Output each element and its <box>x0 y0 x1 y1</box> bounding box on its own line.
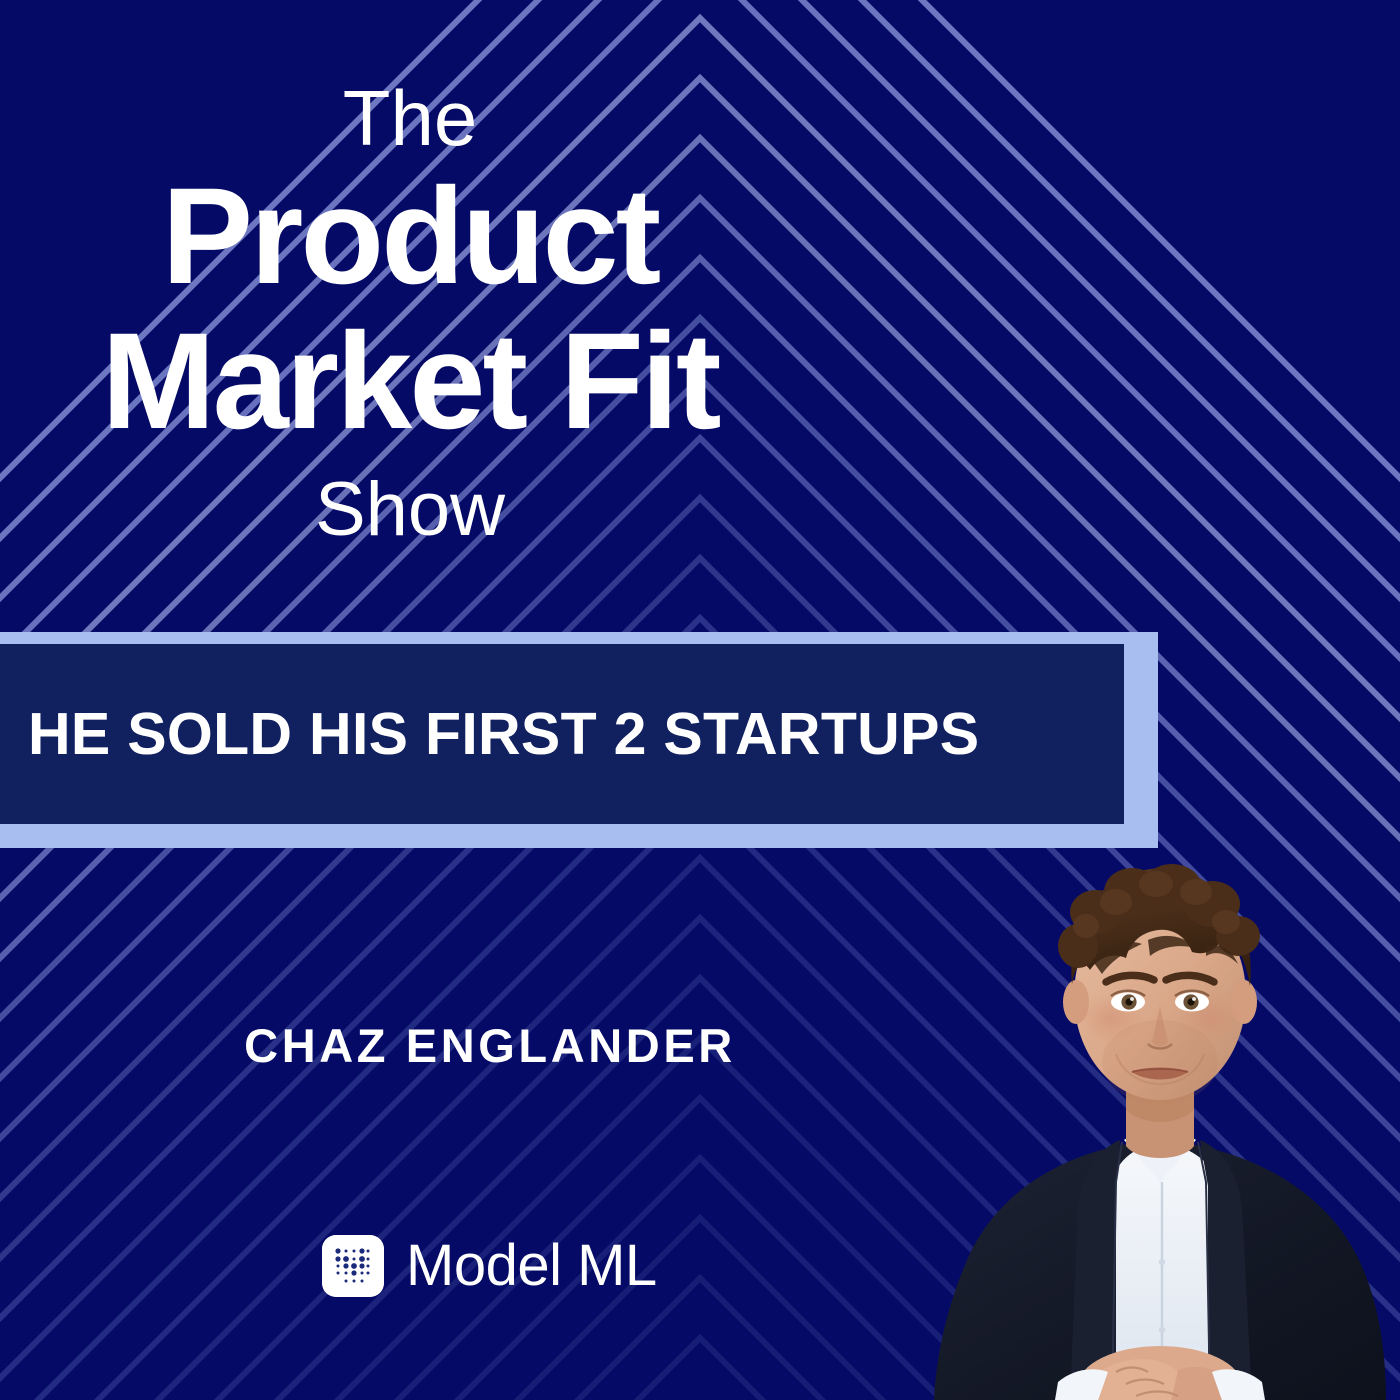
episode-headline-text: HE SOLD HIS FIRST 2 STARTUPS <box>0 700 979 768</box>
title-prefix: The <box>0 78 820 160</box>
guest-name: CHAZ ENGLANDER <box>0 1018 980 1073</box>
title-suffix: Show <box>0 470 820 550</box>
title-line-2: Market Fit <box>0 309 820 454</box>
guest-portrait <box>920 810 1400 1400</box>
podcast-cover-art: The Product Market Fit Show HE SOLD HIS … <box>0 0 1400 1400</box>
brand-name: Model ML <box>406 1232 657 1299</box>
title-line-1: Product <box>0 164 820 309</box>
podcast-title-block: The Product Market Fit Show <box>0 78 820 550</box>
brand-logo: Model ML <box>322 1232 657 1299</box>
dot-matrix-icon <box>322 1235 384 1297</box>
episode-headline-inner: HE SOLD HIS FIRST 2 STARTUPS <box>0 644 1124 824</box>
title-main: Product Market Fit <box>0 164 820 454</box>
